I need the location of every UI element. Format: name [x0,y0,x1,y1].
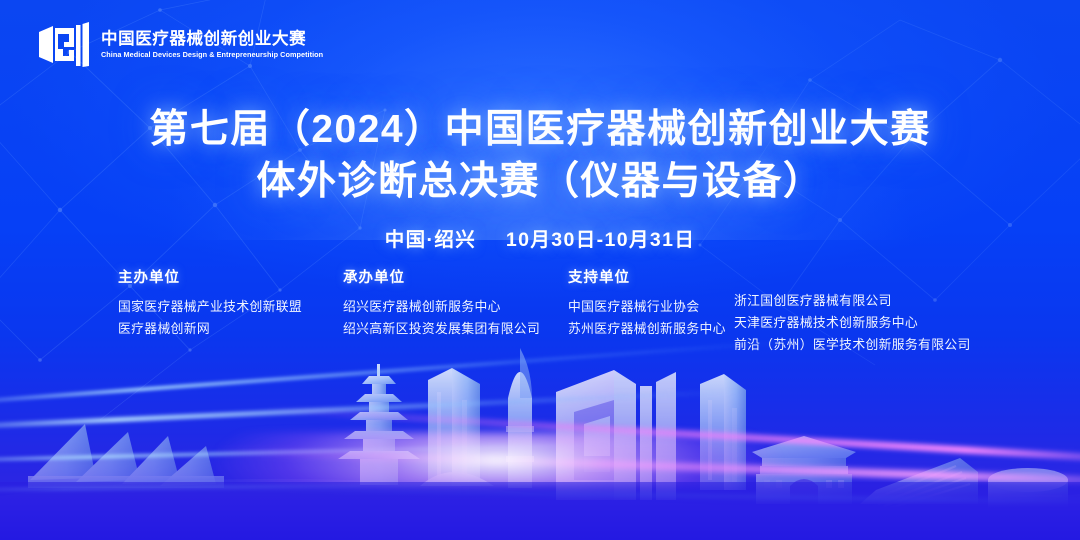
landmark-pagoda-tower [338,364,420,485]
title-line-2: 体外诊断总决赛（仪器与设备） [0,156,1080,208]
supporter-item: 天津医疗器械技术创新服务中心 [734,312,994,334]
organizer-column-undertaker: 承办单位 绍兴医疗器械创新服务中心 绍兴高新区投资发展集团有限公司 [343,266,568,356]
supporter-item: 浙江国创医疗器械有限公司 [734,290,994,312]
event-banner: 中国医疗器械创新创业大赛 China Medical Devices Desig… [0,0,1080,540]
supporter-item: 中国医疗器械行业协会 [568,296,734,318]
logo-title-en: China Medical Devices Design & Entrepren… [101,51,323,59]
logo-title-cn: 中国医疗器械创新创业大赛 [101,31,327,48]
title-block: 第七届（2024）中国医疗器械创新创业大赛 体外诊断总决赛（仪器与设备） 中国·… [0,104,1080,252]
organizer-column-supporters: 支持单位 中国医疗器械行业协会 苏州医疗器械创新服务中心 浙江国创医疗器械有限公… [568,266,994,356]
undertaker-item: 绍兴医疗器械创新服务中心 [343,296,568,318]
landmark-bullet-tower [506,348,534,488]
organizers-block: 主办单位 国家医疗器械产业技术创新联盟 医疗器械创新网 承办单位 绍兴医疗器械创… [118,266,1020,356]
host-item: 医疗器械创新网 [118,318,343,340]
host-heading: 主办单位 [118,266,343,287]
supporters-subcolumn-right: 浙江国创医疗器械有限公司 天津医疗器械技术创新服务中心 前沿（苏州）医学技术创新… [734,266,994,356]
landmark-opera-house-sails [28,424,224,488]
landmark-twin-skyscraper [420,368,494,486]
brand-logo: 中国医疗器械创新创业大赛 China Medical Devices Desig… [38,22,327,68]
supporters-spacer [734,266,994,290]
supporter-item: 苏州医疗器械创新服务中心 [568,318,734,340]
organizer-column-host: 主办单位 国家医疗器械产业技术创新联盟 医疗器械创新网 [118,266,343,356]
event-location: 中国·绍兴 [385,229,477,251]
supporter-item: 前沿（苏州）医学技术创新服务有限公司 [734,334,994,356]
subtitle-line: 中国·绍兴 10月30日-10月31日 [0,223,1080,252]
title-line-1: 第七届（2024）中国医疗器械创新创业大赛 [0,104,1080,156]
landmark-glass-skyscraper [700,374,746,490]
supporters-heading: 支持单位 [568,266,734,287]
bottom-band [0,482,1080,540]
supporters-subcolumn-left: 支持单位 中国医疗器械行业协会 苏州医疗器械创新服务中心 [568,266,734,356]
undertaker-heading: 承办单位 [343,266,568,287]
host-item: 国家医疗器械产业技术创新联盟 [118,296,343,318]
cmdc-open-door-logo-icon [38,22,90,68]
undertaker-item: 绍兴高新区投资发展集团有限公司 [343,318,568,340]
landmark-open-door-monument [556,370,676,500]
event-dates: 10月30日-10月31日 [506,229,695,251]
city-skyline-scene [0,340,1080,540]
